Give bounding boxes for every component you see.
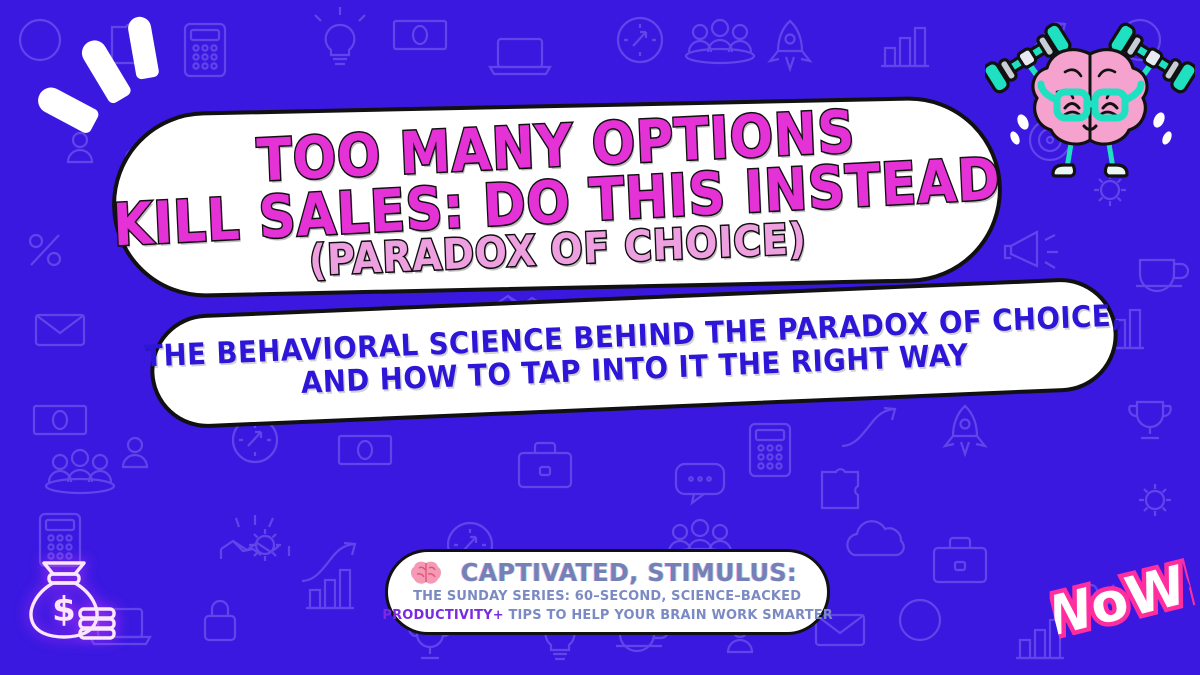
footer-tagline-line-1: THE SUNDAY SERIES: 60–SECOND, SCIENCE–BA… — [413, 587, 801, 605]
footer-title-row: CAPTIVATED, STIMULUS: — [410, 558, 806, 587]
svg-text:$: $ — [52, 590, 76, 630]
title-bubble: TOO MANY OPTIONS KILL SALES: DO THIS INS… — [110, 95, 1004, 300]
footer-tagline-rest: TIPS TO HELP YOUR BRAIN WORK SMARTER — [504, 607, 833, 623]
footer-badge: CAPTIVATED, STIMULUS: THE SUNDAY SERIES:… — [385, 549, 830, 635]
money-bag-icon: $ — [20, 545, 124, 645]
poster-canvas: TOO MANY OPTIONS KILL SALES: DO THIS INS… — [0, 0, 1200, 675]
footer-tagline-line-2: PRODUCTIVITY+ TIPS TO HELP YOUR BRAIN WO… — [382, 606, 833, 624]
footer-tagline-accent: PRODUCTIVITY+ — [382, 607, 503, 623]
brain-lifting-dumbbells-mascot — [985, 18, 1195, 186]
footer-brand-title: CAPTIVATED, STIMULUS: — [460, 558, 796, 587]
brain-icon — [410, 560, 442, 586]
